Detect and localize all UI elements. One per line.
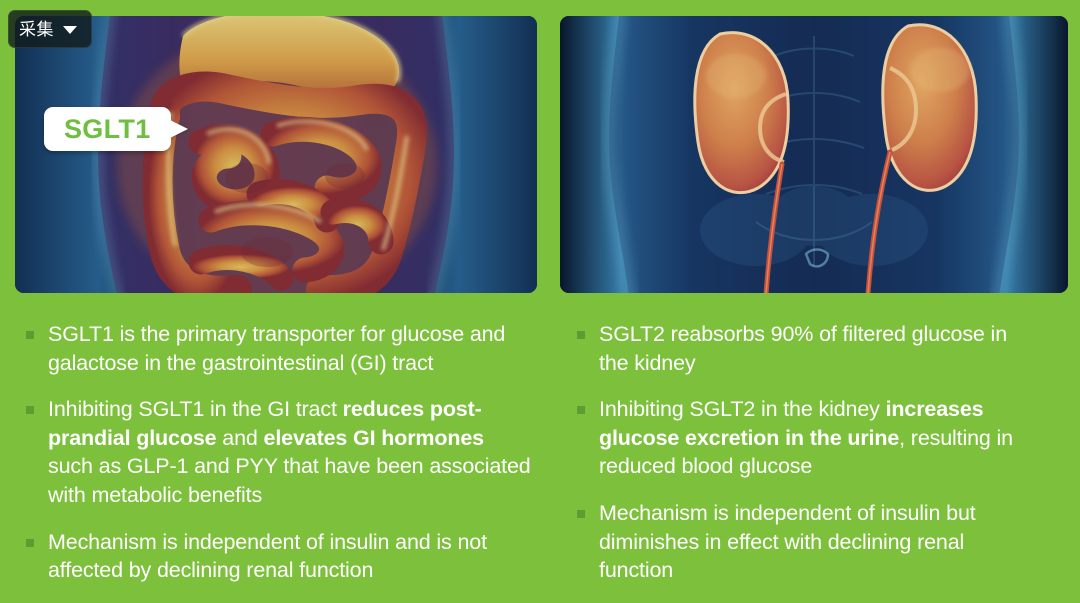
kidneys-illustration <box>560 16 1068 293</box>
callout-pointer-icon <box>170 120 188 138</box>
callout-sglt1: SGLT1 <box>44 107 171 151</box>
bullet-marker-icon <box>26 539 34 547</box>
capture-button-label: 采集 <box>19 21 54 38</box>
bullet-column-left: SGLT1 is the primary transporter for glu… <box>26 320 531 603</box>
bullet-text: Mechanism is independent of insulin and … <box>48 528 531 585</box>
bullet-item: Inhibiting SGLT1 in the GI tract reduces… <box>26 395 531 509</box>
bullet-marker-icon <box>26 331 34 339</box>
gastrointestinal-illustration <box>15 16 537 293</box>
bullet-text: SGLT2 reabsorbs 90% of filtered glucose … <box>599 320 1037 377</box>
bullet-item: SGLT2 reabsorbs 90% of filtered glucose … <box>577 320 1037 377</box>
capture-button[interactable]: 采集 <box>8 10 92 48</box>
bullet-marker-icon <box>577 510 585 518</box>
bullet-item: Mechanism is independent of insulin and … <box>26 528 531 585</box>
bullet-text: Inhibiting SGLT1 in the GI tract reduces… <box>48 395 531 509</box>
bullet-item: Inhibiting SGLT2 in the kidney increases… <box>577 395 1037 481</box>
callout-sglt1-label: SGLT1 <box>64 116 151 143</box>
bullet-text: Inhibiting SGLT2 in the kidney increases… <box>599 395 1037 481</box>
bullet-text: Mechanism is independent of insulin but … <box>599 499 1037 585</box>
bullet-text: SGLT1 is the primary transporter for glu… <box>48 320 531 377</box>
image-panel-sglt1: SGLT1 <box>15 16 537 293</box>
bullet-marker-icon <box>26 406 34 414</box>
bullet-marker-icon <box>577 406 585 414</box>
bullet-column-right: SGLT2 reabsorbs 90% of filtered glucose … <box>577 320 1037 603</box>
bullet-marker-icon <box>577 331 585 339</box>
bullet-item: Mechanism is independent of insulin but … <box>577 499 1037 585</box>
slide-root: SGLT1 <box>0 0 1080 586</box>
image-panel-sglt2: SGLT2 <box>560 16 1068 293</box>
chevron-down-icon[interactable] <box>63 26 77 34</box>
bullet-item: SGLT1 is the primary transporter for glu… <box>26 320 531 377</box>
